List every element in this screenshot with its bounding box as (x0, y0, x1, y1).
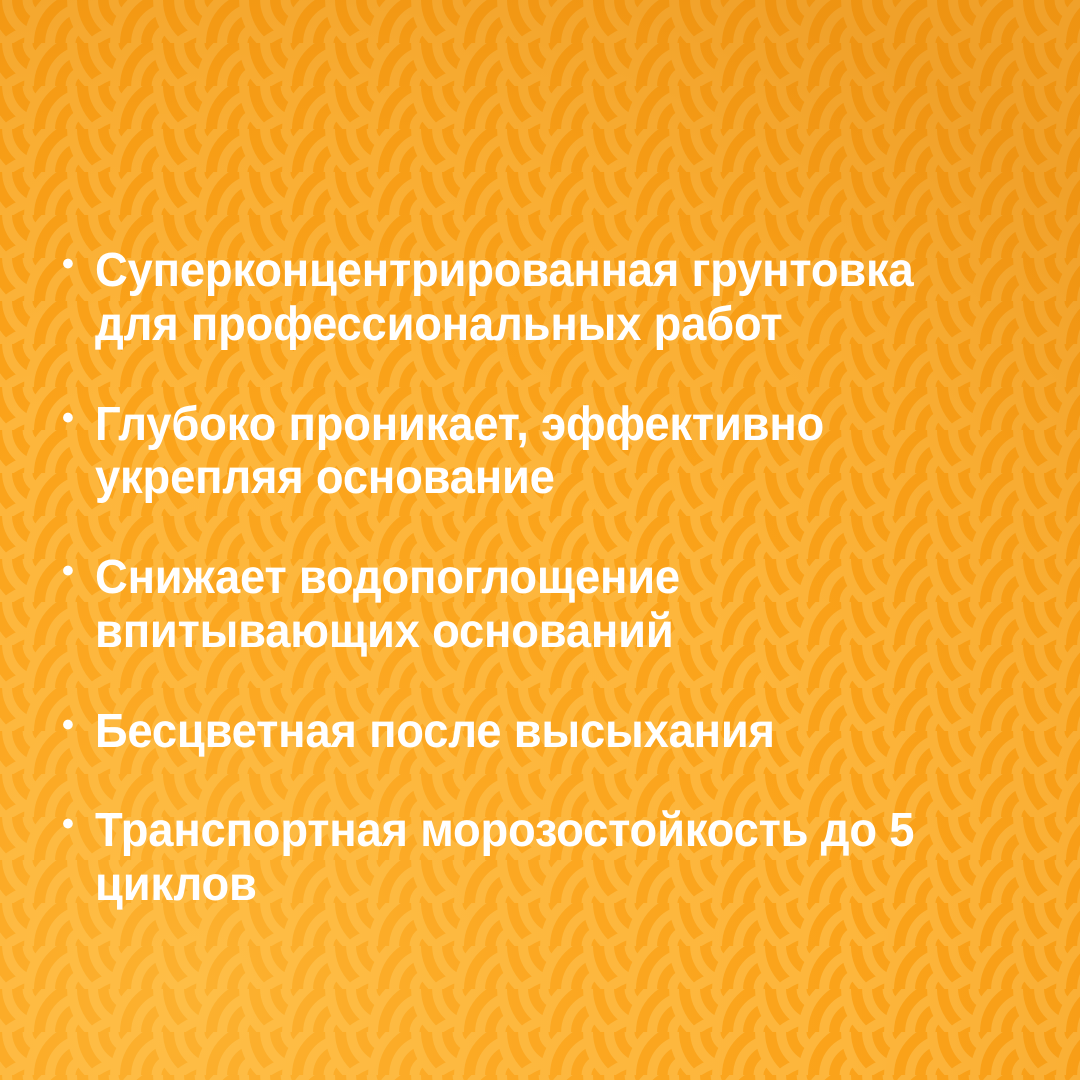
list-item: • Суперконцентрированная грунтовка для п… (62, 244, 1014, 352)
bullet-text: Транспортная морозостойкость до 5 циклов (95, 804, 963, 912)
feature-slide: • Суперконцентрированная грунтовка для п… (0, 0, 1080, 1080)
list-item: • Глубоко проникает, эффективно укрепляя… (62, 398, 1014, 506)
bullet-text: Суперконцентрированная грунтовка для про… (95, 244, 963, 352)
bullet-text: Снижает водопоглощение впитывающих основ… (95, 551, 963, 659)
list-item: • Бесцветная после высыхания (62, 705, 1014, 759)
bullet-text: Бесцветная после высыхания (95, 705, 963, 759)
list-item: • Снижает водопоглощение впитывающих осн… (62, 551, 1014, 659)
bullet-text: Глубоко проникает, эффективно укрепляя о… (95, 398, 963, 506)
list-item: • Транспортная морозостойкость до 5 цикл… (62, 804, 1014, 912)
feature-bullet-list: • Суперконцентрированная грунтовка для п… (62, 244, 1014, 912)
